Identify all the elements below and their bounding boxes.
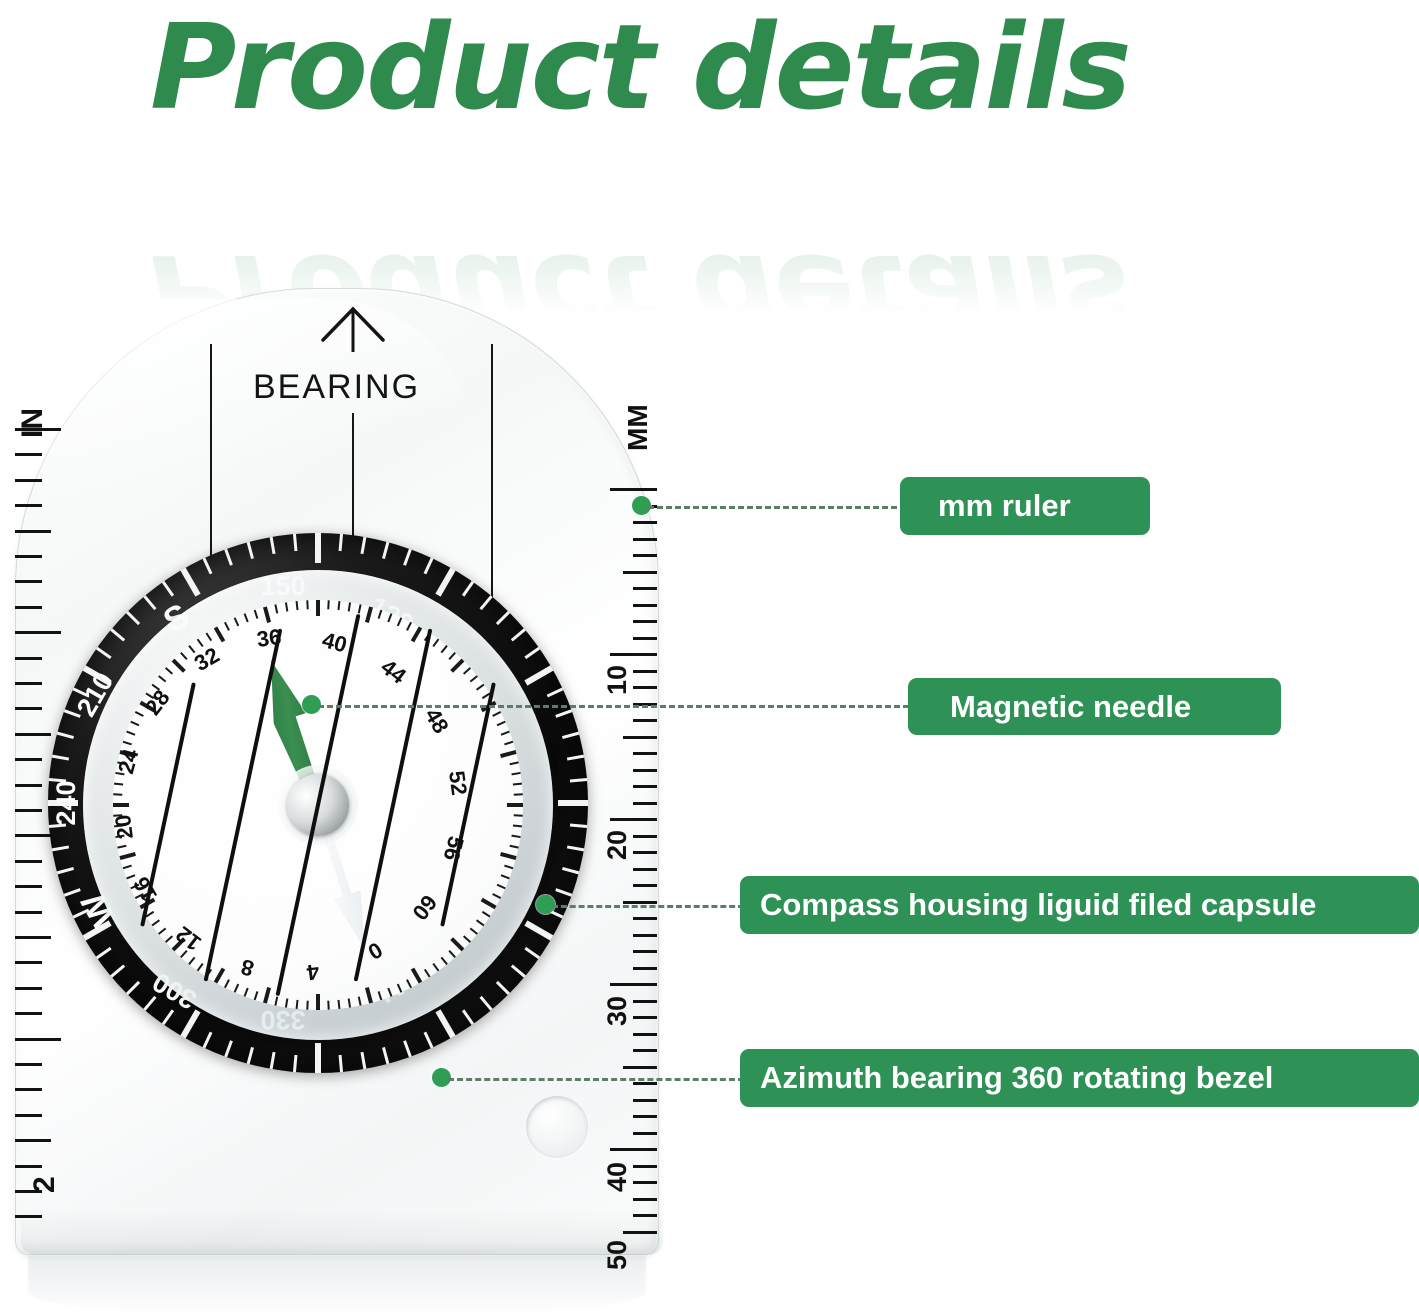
dial-tick [504,865,513,870]
bezel-tick [435,1009,455,1038]
mm-ruler-tick [610,1148,657,1151]
inch-ruler-tick [15,504,42,507]
dial-tick [424,969,431,978]
dial-tick [406,622,412,631]
bezel-tick [524,647,540,659]
dial-tick [510,761,519,765]
dial-tick [432,963,439,971]
dial-tick [152,919,160,926]
bezel-tick [567,845,584,851]
bezel-tick [570,824,587,828]
compass-dial-face: 04812162024283236404448525660 [113,600,523,1010]
dial-tick [337,601,340,610]
dial-number: 0 [345,926,405,976]
dial-tick [254,991,259,1000]
inch-ruler-tick [15,885,42,888]
mm-ruler-tick [623,736,657,739]
dial-tick [397,617,402,626]
mm-ruler-tick [633,719,657,722]
dial-tick [448,652,456,660]
bezel-tick [524,665,553,685]
dial-tick [234,984,239,993]
dial-tick [113,793,122,795]
dial-tick [397,984,402,993]
dial-tick [406,979,412,988]
callout-label-rotating-bezel: Azimuth bearing 360 rotating bezel [740,1049,1419,1107]
dial-tick [500,852,516,860]
bezel-tick [247,542,254,559]
dial-tick [501,874,510,879]
mm-ruler-tick [623,1066,657,1069]
bezel-tick [57,732,74,739]
dial-tick [482,911,491,918]
dial-tick [492,893,501,899]
mm-ruler-tick [633,785,657,788]
bezel-tick [339,534,343,551]
dial-tick [411,968,422,984]
mm-ruler-tick [633,620,657,623]
bezel-tick [403,1040,412,1057]
bezel-tick [224,549,233,566]
callout-line-rotating-bezel [448,1078,744,1081]
inch-ruler-tick [15,1063,42,1066]
dial-tick [263,606,271,622]
dial-tick [306,600,308,609]
mm-ruler-tick [633,1049,657,1052]
callout-label-mm-ruler: mm ruler [900,477,1150,535]
bezel-tick [479,595,492,610]
mm-ruler-tick [633,868,657,871]
bezel-tick [424,1032,434,1049]
inch-ruler-tick [15,428,61,431]
dial-tick [432,639,439,647]
bezel-tick [339,1055,343,1072]
dial-tick [274,604,278,613]
mm-ruler: 1020304050 [602,488,657,1233]
bezel-tick [462,581,474,597]
mm-ruler-tick [633,769,657,772]
dial-tick [244,988,249,997]
mm-ruler-tick [633,521,657,524]
inch-ruler-tick [15,1038,61,1041]
mm-ruler-tick [623,571,657,574]
dial-tick [470,675,478,682]
dial-tick [514,814,523,816]
baseplate-reflection [28,1256,646,1316]
inch-ruler-tick [15,936,51,939]
dial-tick [501,731,510,736]
inch-ruler-tick [15,961,42,964]
bezel-tick [511,628,526,641]
inch-ruler-tick [15,555,42,558]
inch-ruler-tick [15,911,42,914]
dial-number: 4 [284,955,341,988]
bezel-tick [162,581,174,597]
inch-ruler-tick [15,809,42,812]
mm-ruler-tick [633,1000,657,1003]
bezel-tick [567,755,584,761]
dial-tick [327,1001,329,1010]
dial-tick [441,645,448,653]
bezel-tick [247,1047,254,1064]
bezel-tick [203,1032,213,1049]
dial-tick [254,610,259,619]
bezel-tick [558,800,588,806]
inch-ruler-number-2: 2 [28,1176,62,1193]
baseplate-edge-shadow [21,1209,663,1255]
dial-tick [411,626,422,642]
meridian-line [204,629,283,982]
dial-tick [481,898,497,909]
bezel-tick [57,867,74,874]
dial-tick [165,667,173,675]
dial-tick [337,1000,340,1009]
dial-tick [378,991,383,1000]
dial-tick [463,667,471,675]
mm-ruler-tick [633,1214,657,1217]
dial-tick [507,803,523,807]
bezel-tick [524,920,553,940]
dial-tick [358,997,362,1006]
dial-tick [510,845,519,849]
dial-tick [348,998,351,1007]
dial-tick [365,987,373,1003]
mm-ruler-tick [633,752,657,755]
bezel-tick [360,1052,366,1069]
dial-tick [448,950,456,958]
inch-ruler-tick [15,860,42,863]
compass-product-photo: BEARING IN 2 MM 1020304050 N330300W24021… [10,288,670,1263]
bezel-tick [435,568,455,597]
dial-tick [513,824,522,827]
mm-ruler-tick [610,488,657,491]
inch-ruler-tick [15,784,42,787]
bezel-tick [52,845,69,851]
mm-ruler-tick [633,934,657,937]
dial-tick [497,884,506,889]
dial-tick [492,711,501,717]
mm-ruler-number: 20 [602,830,633,860]
inch-ruler-tick [15,479,42,482]
callout-label-magnetic-needle: Magnetic needle [908,678,1281,735]
mm-ruler-tick [610,653,657,656]
bezel-tick [110,628,125,641]
mm-ruler-tick [633,587,657,590]
dial-tick [224,622,230,631]
mm-ruler-tick [633,1115,657,1118]
callout-line-compass-housing [552,905,744,908]
dial-tick [504,741,513,746]
bezel-tick [496,611,510,625]
inch-ruler-tick [15,733,51,736]
mm-ruler-tick [633,950,657,953]
dial-tick [224,979,230,988]
bezel-tick [462,1009,474,1025]
dial-tick [348,602,351,611]
mm-ruler-number: 40 [602,1162,633,1192]
dial-tick [365,606,373,622]
inch-ruler-tick [15,606,42,609]
mm-ruler-tick [633,1181,657,1184]
inch-ruler-tick [15,530,51,533]
page-title: Product details [150,8,1130,126]
bezel-tick [382,1047,389,1064]
bezel-tick [524,947,540,959]
bezel-tick [203,558,213,575]
mm-ruler-number: 10 [602,665,633,695]
bezel-tick [52,755,69,761]
dial-tick [244,613,249,622]
bezel-tick [293,534,297,551]
thumb-hole [526,1096,588,1158]
bezel-tick [562,867,579,874]
dial-tick [476,919,484,926]
dial-tick [513,783,522,786]
callout-label-compass-housing: Compass housing liguid filed capsule [740,876,1419,934]
bezel-tick [110,964,125,977]
callout-line-mm-ruler [648,506,906,509]
bezel-tick [315,1043,321,1073]
dial-tick [514,793,523,795]
bezel-tick [360,537,366,554]
bezel-tick [496,981,510,995]
title-banner: Product details Product details [0,0,1419,150]
callout-line-magnetic-needle [318,705,909,708]
mm-ruler-tick [623,1231,657,1234]
mm-ruler-tick [633,686,657,689]
dial-tick [500,750,516,758]
bezel-tick [403,549,412,566]
bezel-tick [570,778,587,782]
dial-tick [387,613,392,622]
inch-ruler-tick [15,1114,42,1117]
dial-tick [470,928,478,935]
mm-ruler-tick [633,637,657,640]
mm-ruler-tick [623,901,657,904]
mm-ruler-tick [633,1132,657,1135]
dial-tick [511,835,520,838]
dial-tick [327,600,329,609]
mm-ruler-tick [633,917,657,920]
bezel-tick [555,888,572,897]
mm-ruler-tick [633,851,657,854]
dial-tick [234,617,239,626]
mm-ruler-tick [633,1082,657,1085]
dial-tick [358,604,362,613]
mm-ruler-tick [633,835,657,838]
inch-ruler-tick [15,453,42,456]
dial-tick [511,772,520,775]
dial-tick [206,633,213,642]
mm-ruler-tick [610,818,657,821]
bezel-tick [315,533,321,563]
mm-ruler-tick [633,884,657,887]
mm-ruler-tick [633,1198,657,1201]
mm-ruler-number: 30 [602,996,633,1026]
dial-tick [476,684,484,691]
dial-number: 44 [364,645,423,699]
bezel-tick [270,1052,276,1069]
dial-tick [441,957,448,965]
bezel-tick [293,1055,297,1072]
mm-ruler-tick [633,967,657,970]
inch-ruler-tick [15,657,42,660]
mm-ruler-tick [633,1165,657,1168]
dial-tick [497,721,506,726]
bezel-tick [270,537,276,554]
dial-tick [450,659,464,673]
mm-ruler-tick [633,670,657,673]
mm-ruler-tick [633,1033,657,1036]
dial-tick [296,1000,299,1009]
dial-tick [450,937,464,951]
bezel-tick [424,558,434,575]
inch-ruler-tick [15,631,61,634]
inch-ruler-tick [15,1012,42,1015]
bezel-tick [224,1040,233,1057]
mm-ruler-tick [633,802,657,805]
bearing-arrow-icon [315,306,391,352]
mm-ruler-tick [610,983,657,986]
mm-ruler-tick [633,554,657,557]
dial-tick [306,1001,308,1010]
mm-ruler-tick [633,604,657,607]
bezel-tick [555,709,572,718]
inch-ruler-tick [15,1215,42,1218]
inch-ruler-tick [15,1088,42,1091]
dial-tick [285,602,288,611]
dial-tick [296,601,299,610]
mm-ruler-tick [633,1016,657,1019]
inch-ruler-tick [15,580,42,583]
mm-ruler-number: 50 [602,1240,633,1270]
inch-ruler-tick [15,682,42,685]
bezel-tick [562,732,579,739]
dial-tick [263,987,271,1003]
dial-tick [378,610,383,619]
bezel-tick [511,964,526,977]
dial-tick [285,998,288,1007]
dial-tick [316,994,320,1010]
bearing-label: BEARING [253,368,420,407]
bezel-tick [143,996,156,1011]
mm-ruler-unit-label: MM [622,404,654,451]
inch-ruler-tick [15,1139,51,1142]
bezel-tick [479,996,492,1011]
mm-ruler-tick [633,538,657,541]
inch-ruler-tick [15,1165,42,1168]
dial-tick [387,988,392,997]
inch-ruler-tick [15,758,42,761]
bezel-degree-label: 240 [51,768,82,838]
inch-ruler-tick [15,707,42,710]
bezel-tick [382,542,389,559]
bezel-tick [162,1009,174,1025]
bezel-tick [547,688,564,698]
dial-number: 48 [412,691,462,751]
dial-tick [274,997,278,1006]
mm-ruler-tick [633,1099,657,1102]
dial-tick [463,935,471,943]
dial-number: 36 [241,622,298,655]
dial-tick [316,600,320,616]
inch-ruler-tick [15,987,42,990]
